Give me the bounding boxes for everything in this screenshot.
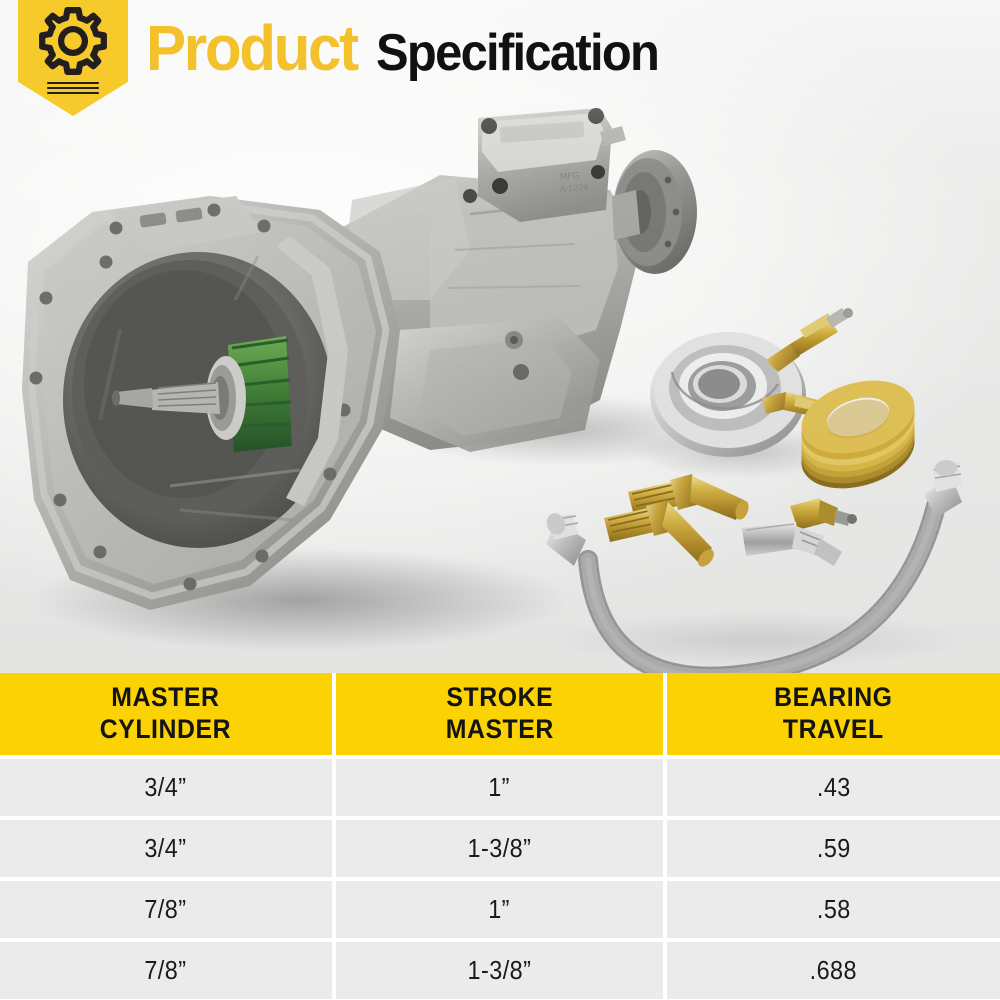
brass-fitting-upper (766, 308, 853, 372)
cell-value: 1” (489, 894, 511, 925)
cell-master-cylinder: 3/4” (0, 820, 332, 877)
column-header-stroke-master: STROKE MASTER (336, 673, 664, 755)
brass-union-fitting (790, 498, 857, 530)
header-badge-content (18, 0, 128, 116)
cell-master-cylinder: 7/8” (0, 881, 332, 938)
column-header-master-cylinder: MASTER CYLINDER (0, 673, 332, 755)
column-header-bearing-travel: BEARING TRAVEL (667, 673, 1000, 755)
cell-value: 1-3/8” (468, 833, 532, 864)
column-header-line2: MASTER (445, 714, 553, 746)
cell-master-cylinder: 7/8” (0, 942, 332, 999)
cell-value: .43 (817, 772, 851, 803)
cell-value: 7/8” (145, 955, 187, 986)
table-row: 7/8” 1-3/8” .688 (0, 942, 1000, 999)
column-header-line2: TRAVEL (774, 714, 892, 746)
badge-accent-lines (47, 82, 99, 97)
cell-stroke-master: 1” (336, 759, 664, 816)
specification-table: MASTER CYLINDER STROKE MASTER BEARING TR… (0, 673, 1000, 1000)
svg-text:MFG: MFG (559, 171, 580, 183)
cell-bearing-travel: .58 (667, 881, 1000, 938)
cell-bearing-travel: .43 (667, 759, 1000, 816)
shim-stack (793, 368, 923, 500)
column-header-line1: BEARING (774, 682, 892, 714)
table-row: 3/4” 1-3/8” .59 (0, 820, 1000, 877)
column-header-line1: STROKE (445, 682, 553, 714)
table-row: 7/8” 1” .58 (0, 881, 1000, 938)
cell-value: 1-3/8” (468, 955, 532, 986)
page-title-secondary: Specification (376, 27, 658, 79)
cell-bearing-travel: .59 (667, 820, 1000, 877)
cell-stroke-master: 1” (336, 881, 664, 938)
cell-stroke-master: 1-3/8” (336, 820, 664, 877)
cell-value: 3/4” (145, 772, 187, 803)
cell-value: .58 (817, 894, 851, 925)
table-row: 3/4” 1” .43 (0, 759, 1000, 816)
cell-value: .688 (810, 955, 857, 986)
page-title-primary: Product (146, 16, 357, 80)
product-specification-page: MFG A-1234 (0, 0, 1000, 1000)
steel-coupler-fitting (742, 522, 842, 566)
cell-value: .59 (817, 833, 851, 864)
brass-stud-short (604, 500, 717, 570)
shifter-cover: MFG A-1234 (478, 108, 626, 222)
column-header-line2: CYLINDER (100, 714, 231, 746)
gear-icon (38, 6, 108, 76)
cell-master-cylinder: 3/4” (0, 759, 332, 816)
table-header-row: MASTER CYLINDER STROKE MASTER BEARING TR… (0, 673, 1000, 755)
cell-value: 1” (489, 772, 511, 803)
cell-value: 3/4” (145, 833, 187, 864)
cell-value: 7/8” (145, 894, 187, 925)
page-header: ProductSpecification (0, 0, 1000, 118)
cell-bearing-travel: .688 (667, 942, 1000, 999)
cell-stroke-master: 1-3/8” (336, 942, 664, 999)
page-title: ProductSpecification (146, 16, 677, 80)
column-header-line1: MASTER (100, 682, 231, 714)
